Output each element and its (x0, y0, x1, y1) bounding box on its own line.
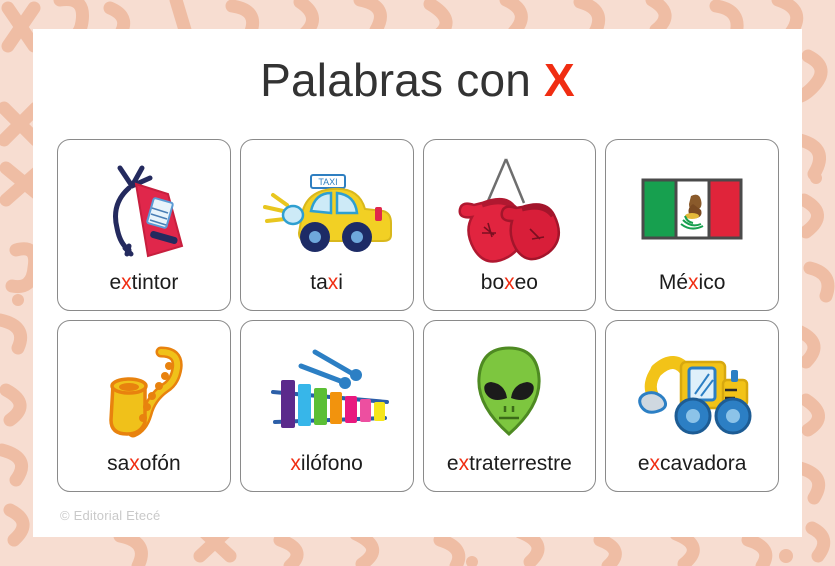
word-card-xilofono[interactable]: xilófono (240, 320, 414, 492)
fire-extinguisher-icon (84, 156, 204, 262)
word-card-boxeo[interactable]: boxeo (423, 139, 597, 311)
xylophone-icon (257, 340, 397, 440)
page-title: Palabras con X (33, 57, 802, 103)
card-illustration (58, 140, 230, 272)
card-label: boxeo (481, 272, 538, 310)
content-page: Palabras con X (33, 29, 802, 537)
word-card-extraterrestre[interactable]: extraterrestre (423, 320, 597, 492)
saxophone-icon (89, 340, 199, 440)
card-illustration (424, 321, 596, 453)
svg-text:TAXI: TAXI (318, 177, 337, 187)
taxi-icon: TAXI (257, 159, 397, 259)
word-card-excavadora[interactable]: excavadora (605, 320, 779, 492)
alien-icon (461, 340, 557, 440)
card-illustration: TAXI (241, 140, 413, 272)
word-card-grid: extintor TAXI (57, 139, 779, 492)
card-label: xilófono (290, 453, 362, 491)
title-letter-x: X (544, 54, 575, 106)
card-illustration (424, 140, 596, 272)
mexico-flag-icon (631, 166, 753, 252)
card-illustration (58, 321, 230, 453)
card-label: taxi (310, 272, 343, 310)
word-card-saxofon[interactable]: saxofón (57, 320, 231, 492)
card-illustration (241, 321, 413, 453)
card-label: extintor (109, 272, 178, 310)
word-card-extintor[interactable]: extintor (57, 139, 231, 311)
card-label: excavadora (638, 453, 747, 491)
excavator-icon (627, 340, 757, 440)
card-illustration (606, 140, 778, 272)
copyright-credit: © Editorial Etecé (60, 508, 160, 523)
card-label: saxofón (107, 453, 181, 491)
boxing-gloves-icon (444, 155, 574, 263)
card-label: extraterrestre (447, 453, 572, 491)
title-prefix: Palabras con (260, 54, 544, 106)
card-label: México (659, 272, 726, 310)
word-card-taxi[interactable]: TAXI taxi (240, 139, 414, 311)
card-illustration (606, 321, 778, 453)
word-card-mexico[interactable]: México (605, 139, 779, 311)
